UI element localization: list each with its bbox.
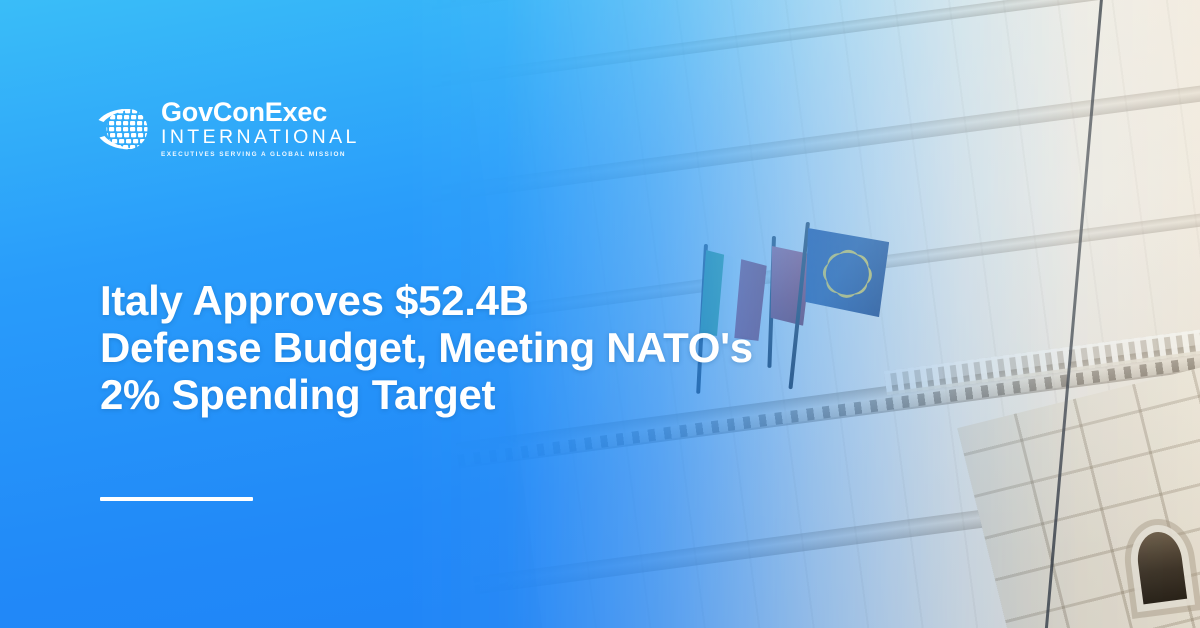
hero-content: GovConExec INTERNATIONAL EXECUTIVES SERV… xyxy=(0,0,1200,628)
accent-divider xyxy=(100,497,253,501)
globe-mesh-icon xyxy=(96,99,152,157)
page-title: Italy Approves $52.4B Defense Budget, Me… xyxy=(100,277,740,418)
brand-subtitle: INTERNATIONAL xyxy=(161,127,360,148)
headline-line-1: Italy Approves $52.4B xyxy=(100,277,740,324)
headline-line-2: Defense Budget, Meeting NATO's xyxy=(100,324,740,371)
article-hero-card: GovConExec INTERNATIONAL EXECUTIVES SERV… xyxy=(0,0,1200,628)
brand-name: GovConExec xyxy=(161,98,360,126)
brand-logo[interactable]: GovConExec INTERNATIONAL EXECUTIVES SERV… xyxy=(96,98,360,158)
brand-tagline: EXECUTIVES SERVING A GLOBAL MISSION xyxy=(161,151,360,158)
headline-line-3: 2% Spending Target xyxy=(100,371,740,418)
brand-wordmark: GovConExec INTERNATIONAL EXECUTIVES SERV… xyxy=(161,98,360,158)
